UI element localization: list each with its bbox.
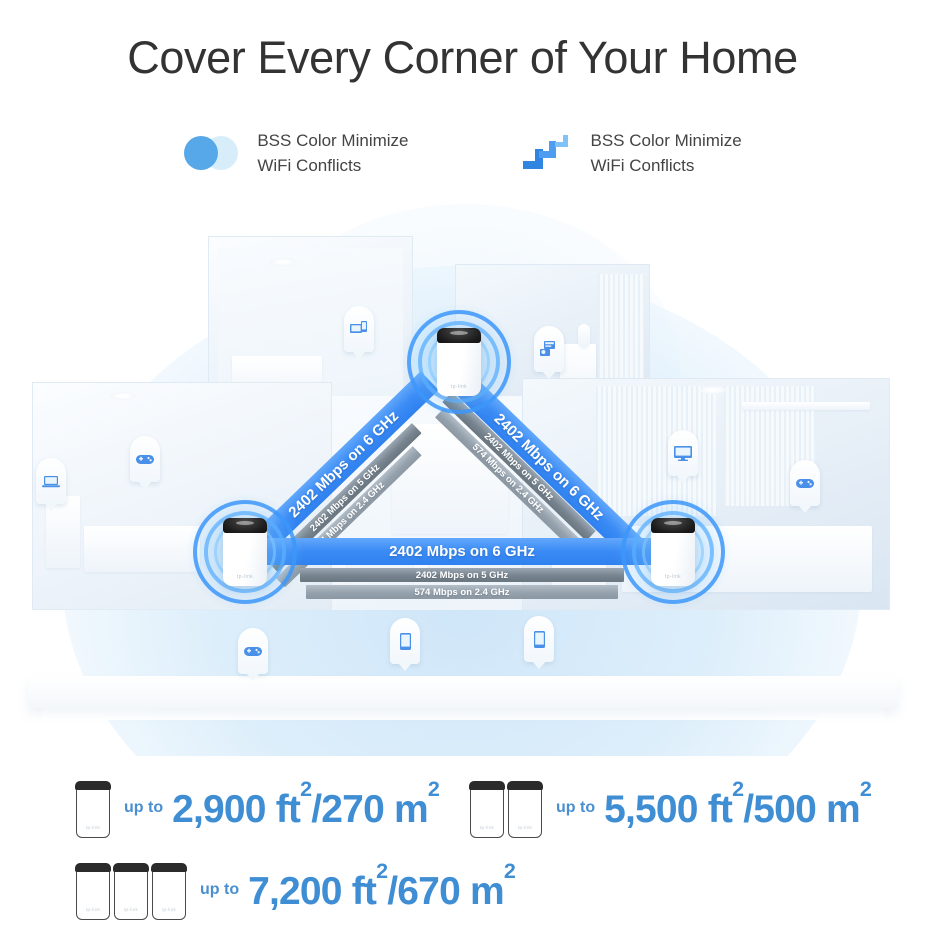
feature-label: BSS Color Minimize WiFi Conflicts <box>257 128 408 178</box>
pin-phone-kitchen <box>524 616 554 662</box>
unit-group-3: tp-link tp-link tp-link <box>76 864 186 920</box>
band-label: 2402 Mbps on 5 GHz <box>416 570 508 581</box>
router-unit-glyph: tp-link <box>114 864 148 920</box>
ceiling-lamp-kitchen <box>700 386 726 394</box>
router-unit-glyph: tp-link <box>152 864 186 920</box>
band-label: 574 Mbps on 2.4 GHz <box>414 587 509 598</box>
coverage-spec-2-pack: tp-link tp-link up to 5,500 ft2/500 m2 <box>470 782 871 838</box>
gamepad-icon <box>796 477 814 489</box>
router-unit-glyph: tp-link <box>470 782 504 838</box>
laptop-icon <box>42 475 60 488</box>
chevron-steps-icon <box>517 130 573 176</box>
link-band-24ghz-left-right: 574 Mbps on 2.4 GHz <box>306 585 618 599</box>
feature-label: BSS Color Minimize WiFi Conflicts <box>591 128 742 178</box>
overlapping-circles-icon <box>183 130 239 176</box>
gamepad-icon <box>136 453 154 465</box>
page-title: Cover Every Corner of Your Home <box>0 32 925 84</box>
router-unit-glyph: tp-link <box>508 782 542 838</box>
feature-bss-color-chevrons: BSS Color Minimize WiFi Conflicts <box>517 128 742 178</box>
house-floor-slab <box>28 676 898 708</box>
pin-gamepad-right <box>790 460 820 506</box>
router-unit-glyph: tp-link <box>76 782 110 838</box>
furniture-upstairs-vase <box>578 324 590 348</box>
coverage-spec-1-pack: tp-link up to 2,900 ft2/270 m2 <box>76 782 439 838</box>
upto-label: up to <box>200 881 239 903</box>
upto-label: up to <box>124 799 163 821</box>
furniture-sofa <box>84 526 200 572</box>
coverage-value: 2,900 ft2/270 m2 <box>172 788 439 832</box>
ceiling-lamp-living <box>110 392 136 400</box>
mesh-unit-upstairs: tp-link <box>404 304 514 419</box>
router-unit-glyph: tp-link <box>76 864 110 920</box>
ceiling-lamp-upstairs <box>270 258 296 266</box>
printer-icon <box>540 341 558 357</box>
unit-group-2: tp-link tp-link <box>470 782 542 838</box>
phone-icon <box>400 633 411 650</box>
page-root: Cover Every Corner of Your Home BSS Colo… <box>0 0 925 936</box>
pin-gamepad-bed <box>238 628 268 674</box>
upto-label: up to <box>556 799 595 821</box>
pin-laptop-left <box>36 458 66 504</box>
gamepad-icon <box>244 645 262 657</box>
coverage-spec-3-pack: tp-link tp-link tp-link up to 7,200 ft2/… <box>76 864 515 920</box>
furniture-shelf-top <box>742 402 870 410</box>
mesh-unit-kitchen: tp-link <box>618 494 728 609</box>
mesh-unit-living-room: tp-link <box>190 494 300 609</box>
link-band-5ghz-left-right: 2402 Mbps on 5 GHz <box>300 568 624 582</box>
unit-group-1: tp-link <box>76 782 110 838</box>
feature-row: BSS Color Minimize WiFi Conflicts BSS Co… <box>0 128 925 178</box>
feature-bss-color-circles: BSS Color Minimize WiFi Conflicts <box>183 128 408 178</box>
pin-phone-hall <box>390 618 420 664</box>
coverage-value: 5,500 ft2/500 m2 <box>604 788 871 832</box>
monitor-icon <box>674 446 692 461</box>
tablet-phone-icon <box>350 321 368 337</box>
pin-monitor <box>668 430 698 476</box>
pin-tablet-phone <box>344 306 374 352</box>
band-label: 2402 Mbps on 6 GHz <box>389 543 535 560</box>
phone-icon <box>534 631 545 648</box>
house-floor-edge <box>42 708 884 720</box>
pin-gamepad-left <box>130 436 160 482</box>
link-band-6ghz-left-right: 2402 Mbps on 6 GHz <box>266 538 658 565</box>
coverage-value: 7,200 ft2/670 m2 <box>248 870 515 914</box>
home-coverage-illustration: 2402 Mbps on 6 GHz 2402 Mbps on 5 GHz 57… <box>0 196 925 756</box>
pin-printer <box>534 326 564 372</box>
